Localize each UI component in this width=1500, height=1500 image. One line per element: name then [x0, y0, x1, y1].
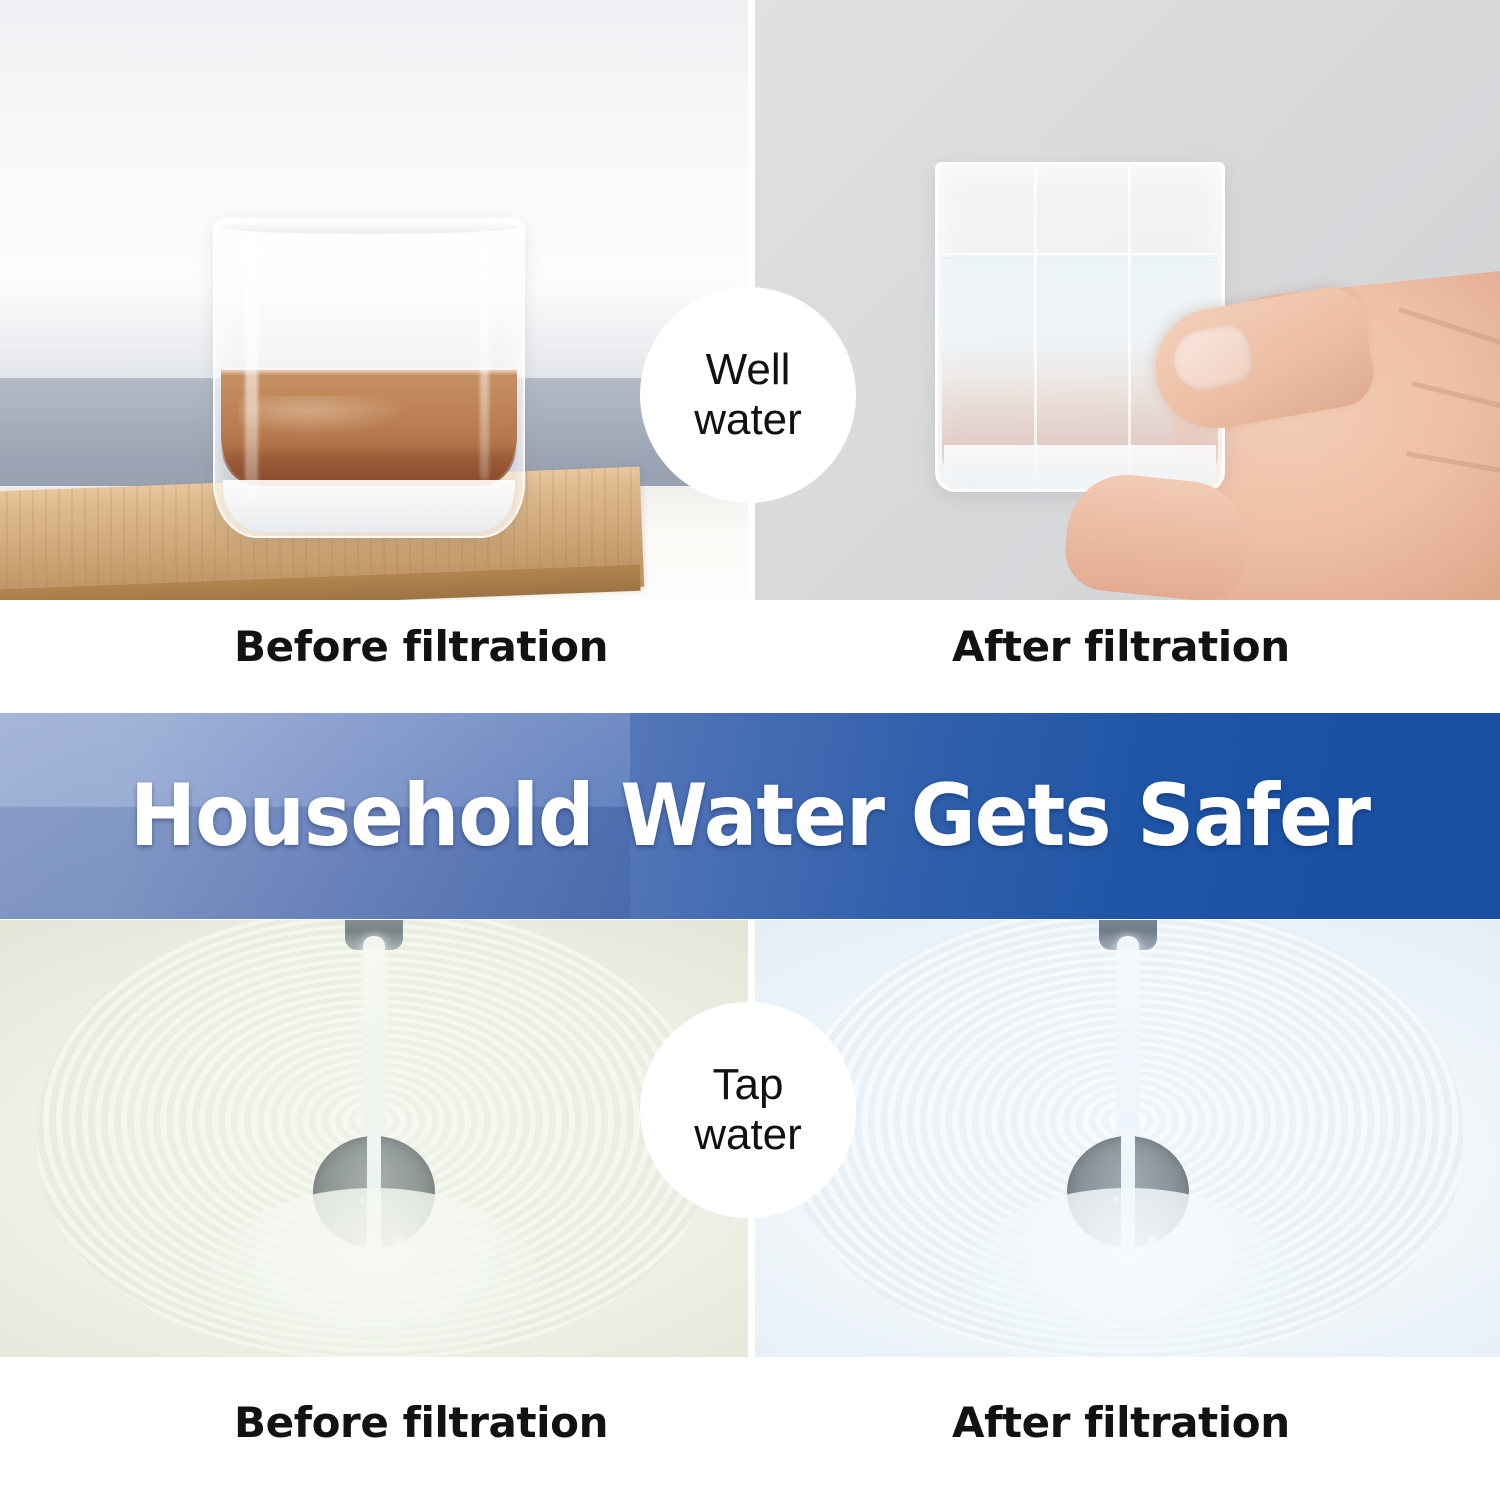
photo-before-filtration-well-water: [0, 0, 748, 600]
glass-highlight-right: [480, 230, 489, 480]
caption-top-right: After filtration: [952, 622, 1290, 671]
badge-well-water: Well water: [640, 287, 856, 503]
drinking-glass-dirty: [213, 218, 525, 538]
caption-bottom-left: Before filtration: [234, 1398, 608, 1447]
headline-banner: Household Water Gets Safer: [0, 713, 1500, 919]
badge-well-water-line1: Well: [706, 345, 791, 395]
glass-facet-1: [1034, 165, 1037, 489]
photo-after-filtration-tap-water: [755, 920, 1500, 1357]
water-surface-line: [942, 253, 1218, 259]
clear-water-tint: [755, 920, 1500, 1357]
badge-tap-water-line2: water: [694, 1110, 802, 1160]
cloudy-water-tint: [0, 920, 748, 1357]
photo-after-filtration-well-water: [755, 0, 1500, 600]
glass-rim: [219, 220, 519, 234]
badge-well-water-line2: water: [694, 395, 802, 445]
caption-bottom-right: After filtration: [952, 1398, 1290, 1447]
glass-highlight-left: [245, 234, 258, 504]
glass-facet-2: [1128, 165, 1131, 489]
water-surface-line: [221, 368, 517, 375]
badge-tap-water-line1: Tap: [713, 1060, 784, 1110]
glass-base: [223, 480, 515, 532]
caption-top-left: Before filtration: [234, 622, 608, 671]
photo-before-filtration-tap-water: [0, 920, 748, 1357]
badge-tap-water: Tap water: [640, 1002, 856, 1218]
comparison-infographic: Before filtration After filtration Befor…: [0, 0, 1500, 1500]
headline-text: Household Water Gets Safer: [60, 766, 1440, 866]
